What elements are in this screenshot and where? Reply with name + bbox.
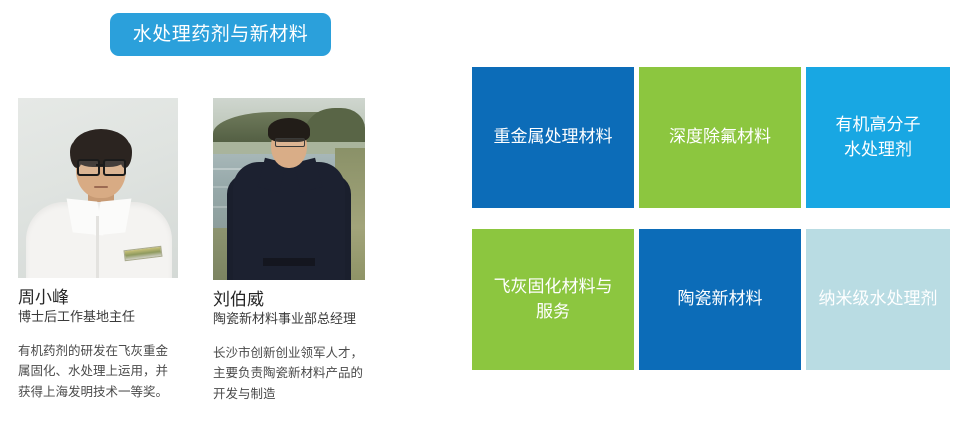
person-role: 陶瓷新材料事业部总经理	[213, 312, 378, 329]
person-name: 周小峰	[18, 288, 178, 309]
product-tile-label: 重金属处理材料	[494, 125, 613, 149]
product-tile[interactable]: 飞灰固化材料与 服务	[472, 229, 634, 370]
slide-canvas: 水处理药剂与新材料 周小峰 博士后工作基地主任	[0, 0, 964, 436]
product-tile[interactable]: 陶瓷新材料	[639, 229, 801, 370]
product-tile[interactable]: 深度除氟材料	[639, 67, 801, 208]
person-card-1: 周小峰 博士后工作基地主任 有机药剂的研发在飞灰重金属固化、水处理上运用，并获得…	[18, 98, 178, 402]
title-badge: 水处理药剂与新材料	[110, 13, 331, 56]
product-tile[interactable]: 纳米级水处理剂	[806, 229, 950, 370]
product-tile-label: 纳米级水处理剂	[819, 287, 938, 311]
title-badge-label: 水处理药剂与新材料	[133, 25, 309, 44]
product-tile-grid: 重金属处理材料 深度除氟材料 有机高分子 水处理剂 飞灰固化材料与 服务 陶瓷新…	[472, 67, 956, 387]
person-description: 有机药剂的研发在飞灰重金属固化、水处理上运用，并获得上海发明技术一等奖。	[18, 341, 168, 402]
person-role: 博士后工作基地主任	[18, 310, 178, 327]
person-name: 刘伯威	[213, 290, 378, 311]
people-section: 周小峰 博士后工作基地主任 有机药剂的研发在飞灰重金属固化、水处理上运用，并获得…	[18, 98, 418, 428]
portrait-photo-liu-bowei	[213, 98, 365, 280]
person-description: 长沙市创新创业领军人才，主要负责陶瓷新材料产品的开发与制造	[213, 343, 373, 404]
portrait-photo-zhou-xiaofeng	[18, 98, 178, 278]
product-tile-label: 深度除氟材料	[669, 125, 771, 149]
person-card-2: 刘伯威 陶瓷新材料事业部总经理 长沙市创新创业领军人才，主要负责陶瓷新材料产品的…	[213, 98, 378, 404]
product-tile[interactable]: 重金属处理材料	[472, 67, 634, 208]
product-tile-label: 飞灰固化材料与 服务	[494, 275, 613, 323]
product-tile-label: 陶瓷新材料	[678, 287, 763, 311]
product-tile[interactable]: 有机高分子 水处理剂	[806, 67, 950, 208]
product-tile-label: 有机高分子 水处理剂	[836, 113, 921, 161]
